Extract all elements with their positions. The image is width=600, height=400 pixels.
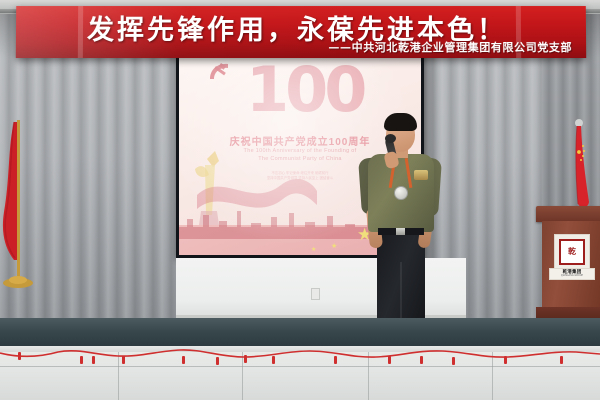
garland-tassel <box>216 357 219 365</box>
slide-star: ★ <box>331 242 337 250</box>
podium-nameplate: 乾港集团 QIANGANG GROUP <box>549 268 595 280</box>
garland-tassel <box>388 356 391 364</box>
garland-tassel <box>504 356 507 364</box>
garland-tassel <box>92 356 95 364</box>
red-overhead-banner: 发挥先锋作用，永葆先进本色！ ——中共河北乾港企业管理集团有限公司党支部 <box>16 6 586 58</box>
garland-tassel <box>182 356 185 364</box>
garland-tassel <box>122 356 125 364</box>
garland-tassel <box>420 356 423 364</box>
hammer-and-sickle-icon <box>207 61 233 83</box>
podium-seal-icon: 乾 <box>559 239 585 265</box>
garland-tassel <box>18 352 21 360</box>
podium-top-surface <box>536 206 600 222</box>
floor-grout-line <box>0 366 600 367</box>
banner-subtitle: ——中共河北乾港企业管理集团有限公司党支部 <box>328 39 572 55</box>
belt-buckle-icon <box>396 228 405 235</box>
podium-logo-plate: 乾 <box>554 234 590 270</box>
garland-tassel <box>334 356 337 364</box>
red-flag-left <box>0 120 46 290</box>
chest-badge-icon <box>414 170 428 180</box>
podium-seal-text: 乾 <box>568 248 576 256</box>
wall-socket <box>311 288 320 300</box>
photo-scene: 100 庆祝中国共产党成立100周年 The 100th Anniversary… <box>0 0 600 400</box>
medal-icon <box>394 186 408 200</box>
stage-front-face <box>0 318 600 348</box>
microphone-head-icon <box>385 134 396 143</box>
garland-tassel <box>244 355 247 363</box>
slide-star: ★ <box>311 246 316 253</box>
red-garland-rope <box>0 348 600 364</box>
speaker-podium[interactable]: 乾 乾港集团 QIANGANG GROUP <box>536 206 600 324</box>
presenter <box>358 112 442 340</box>
podium-brand-en: QIANGANG GROUP <box>561 275 583 278</box>
garland-tassel <box>452 357 455 365</box>
slide-numeral-100: 100 <box>246 59 363 121</box>
presenter-hair <box>384 113 417 131</box>
garland-tassel <box>80 356 83 364</box>
garland-tassel <box>272 356 275 364</box>
garland-tassel <box>560 356 563 364</box>
